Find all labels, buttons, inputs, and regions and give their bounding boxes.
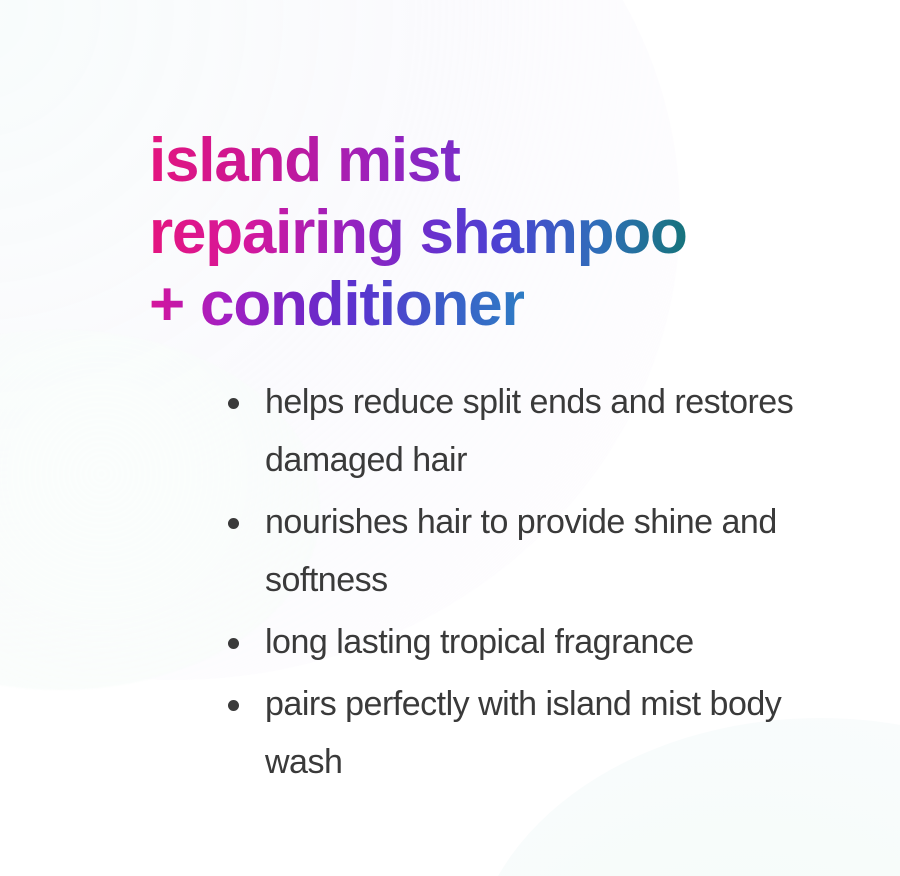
headline-line-2: repairing shampoo <box>149 197 687 269</box>
product-callout-card: island mist repairing shampoo + conditio… <box>0 0 900 876</box>
bullet-dot-icon <box>228 518 239 529</box>
benefits-list: helps reduce split ends and restores dam… <box>225 373 865 795</box>
headline-line-1: island mist <box>149 125 460 197</box>
bullet-dot-icon <box>228 398 239 409</box>
headline-line-3: + conditioner <box>149 269 524 341</box>
list-item: helps reduce split ends and restores dam… <box>225 373 865 489</box>
list-item: nourishes hair to provide shine and soft… <box>225 493 865 609</box>
benefit-text: helps reduce split ends and restores dam… <box>265 383 793 479</box>
benefit-text: nourishes hair to provide shine and soft… <box>265 503 777 599</box>
bullet-dot-icon <box>228 700 239 711</box>
list-item: long lasting tropical fragrance <box>225 613 865 671</box>
list-item: pairs perfectly with island mist body wa… <box>225 675 865 791</box>
bullet-dot-icon <box>228 638 239 649</box>
benefit-text: long lasting tropical fragrance <box>265 623 694 661</box>
benefit-text: pairs perfectly with island mist body wa… <box>265 685 781 781</box>
product-headline: island mist repairing shampoo + conditio… <box>149 125 849 341</box>
